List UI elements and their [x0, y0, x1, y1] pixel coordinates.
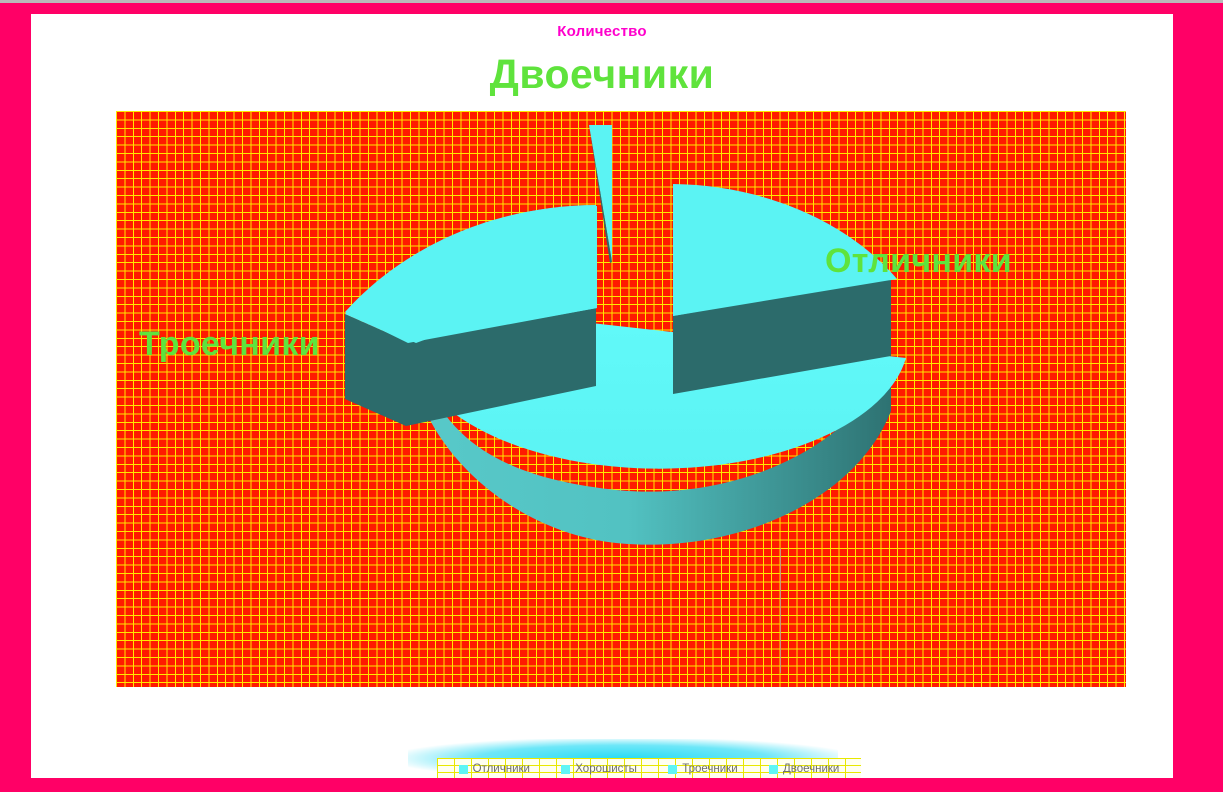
legend-swatch-icon	[769, 765, 778, 774]
legend-item-dvoechniki[interactable]: Двоечники	[769, 763, 839, 775]
legend-label: Хорошисты	[575, 763, 637, 775]
pie-chart-graphic[interactable]	[116, 111, 1126, 687]
slice-label-troechniki: Троечники	[139, 325, 320, 364]
axis-title: Количество	[31, 23, 1173, 40]
slice-label-otlichniki: Отличники	[825, 242, 1012, 281]
legend-swatch-icon	[668, 765, 677, 774]
legend-label: Троечники	[682, 763, 737, 775]
legend-label: Отличники	[473, 763, 530, 775]
legend-item-otlichniki[interactable]: Отличники	[459, 763, 530, 775]
chart-title: Двоечники	[31, 51, 1173, 98]
legend-item-troechniki[interactable]: Троечники	[668, 763, 737, 775]
slice-label-horoshisty: Хорошис...	[785, 682, 969, 687]
legend-swatch-icon	[459, 765, 468, 774]
plot-area[interactable]: Троечники Отличники Хорошис...	[116, 111, 1126, 687]
chart-legend[interactable]: Отличники Хорошисты Троечники Двоечники	[437, 758, 861, 778]
legend-item-horoshisty[interactable]: Хорошисты	[561, 763, 637, 775]
legend-label: Двоечники	[783, 763, 839, 775]
legend-swatch-icon	[561, 765, 570, 774]
pie-slice-troechniki[interactable]	[345, 205, 597, 426]
chart-canvas[interactable]: Количество Двоечники	[31, 14, 1173, 778]
window-top-edge	[0, 0, 1223, 3]
chart-window: Количество Двоечники	[0, 0, 1223, 792]
